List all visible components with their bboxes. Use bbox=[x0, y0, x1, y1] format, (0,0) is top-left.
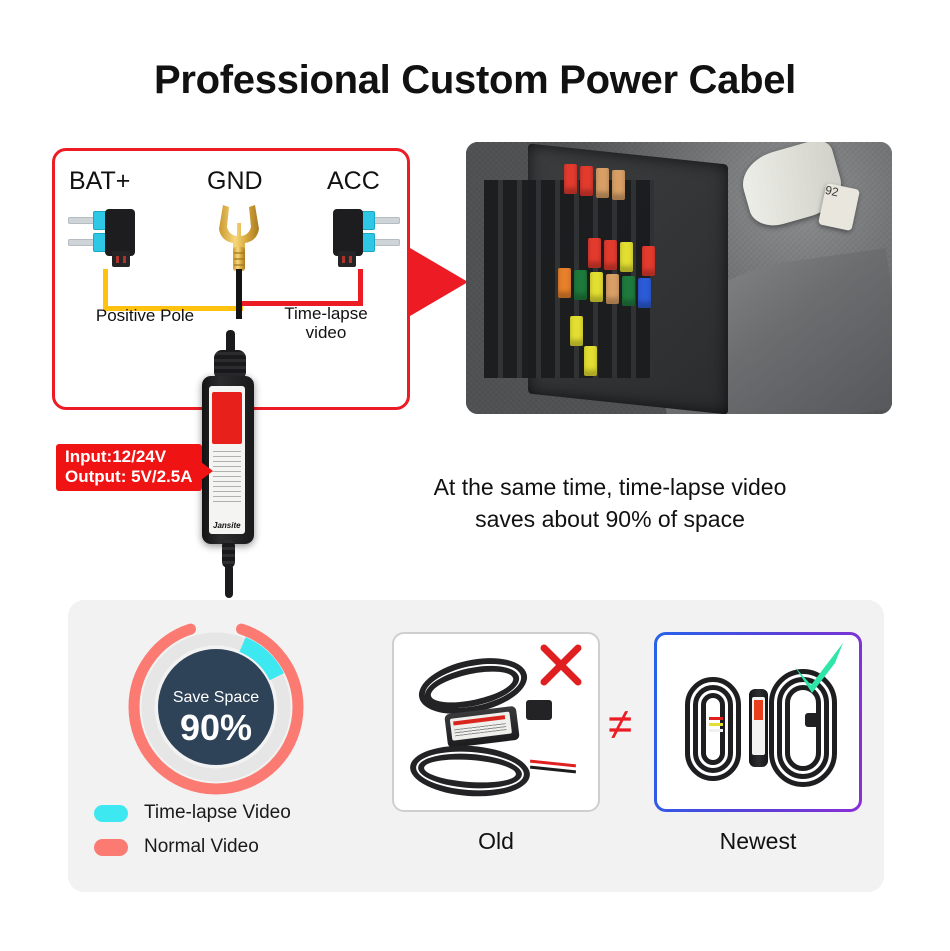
legend-swatch-normal bbox=[94, 839, 128, 856]
page-title: Professional Custom Power Cabel bbox=[0, 58, 950, 103]
comparison-panel: Save Space 90% Time-lapse Video Normal V… bbox=[68, 600, 884, 892]
legend-item-time-lapse: Time-lapse Video bbox=[94, 802, 291, 824]
red-arrow-icon bbox=[410, 248, 468, 316]
new-caption: Newest bbox=[654, 828, 862, 855]
donut-center-label: Save Space bbox=[173, 689, 259, 706]
fuse-tap-acc-icon bbox=[325, 207, 399, 269]
terminal-label-acc: ACC bbox=[327, 167, 380, 196]
spec-leader-line bbox=[180, 461, 202, 463]
legend-swatch-time-lapse bbox=[94, 805, 128, 822]
donut-center-value: 90% bbox=[180, 707, 252, 748]
old-device-body bbox=[444, 706, 520, 749]
chart-legend: Time-lapse Video Normal Video bbox=[94, 802, 291, 870]
device-brand-name: Jansite bbox=[213, 521, 241, 530]
spec-output-text: Output: 5V/2.5A bbox=[65, 467, 193, 487]
spec-badge-pointer-icon bbox=[201, 462, 213, 480]
terminal-label-gnd: GND bbox=[207, 167, 263, 196]
new-device-body bbox=[749, 689, 768, 767]
x-mark-icon bbox=[538, 642, 584, 688]
device-spec-label: Jansite bbox=[209, 386, 245, 534]
tagline-text: At the same time, time-lapse video saves… bbox=[360, 472, 860, 535]
check-mark-icon bbox=[791, 641, 849, 693]
terminal-label-bat-plus: BAT+ bbox=[69, 167, 130, 196]
car-fuse-box-photo: 92 bbox=[466, 142, 892, 414]
save-space-donut-chart: Save Space 90% bbox=[106, 612, 326, 802]
spec-input-text: Input:12/24V bbox=[65, 447, 193, 467]
old-product-card bbox=[392, 632, 600, 812]
old-caption: Old bbox=[392, 828, 600, 855]
legend-item-normal: Normal Video bbox=[94, 836, 291, 858]
legend-label-time-lapse: Time-lapse Video bbox=[144, 802, 291, 824]
legend-label-normal: Normal Video bbox=[144, 836, 259, 858]
sublabel-positive-pole: Positive Pole bbox=[65, 306, 225, 325]
device-cable-bottom bbox=[225, 564, 233, 598]
wire-yellow-vertical bbox=[103, 269, 108, 311]
new-product-card bbox=[654, 632, 862, 812]
spec-badge: Input:12/24V Output: 5V/2.5A bbox=[56, 444, 202, 491]
device-body: Jansite bbox=[202, 376, 254, 544]
fuse-tap-bat-icon bbox=[69, 207, 143, 269]
not-equal-icon: ≠ bbox=[608, 700, 632, 750]
wire-black-vertical bbox=[236, 269, 242, 319]
